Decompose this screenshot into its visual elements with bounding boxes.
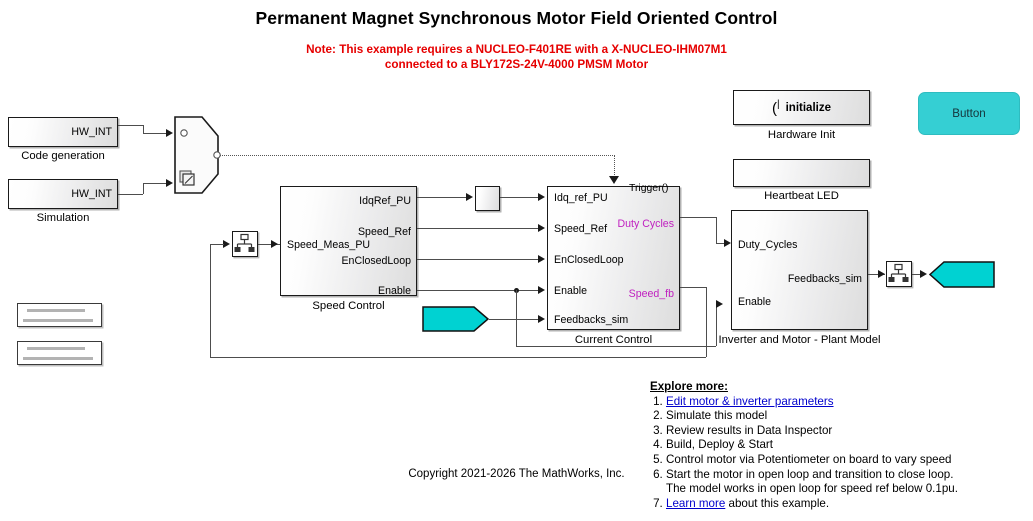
simulation-port-label: HW_INT bbox=[71, 188, 112, 200]
plant-in-dutycycles: Duty_Cycles bbox=[738, 239, 797, 251]
edit-motor-inverter-parameters-link[interactable]: Edit motor & inverter parameters bbox=[666, 395, 834, 408]
arrow-current-control-in-enable bbox=[538, 286, 545, 294]
explore-item-4: Build, Deploy & Start bbox=[666, 438, 1030, 453]
learn-more-link[interactable]: Learn more bbox=[666, 497, 725, 510]
trigger-dashed-v bbox=[614, 155, 615, 177]
plant-model-block[interactable]: Duty_Cycles Enable Feedbacks_sim bbox=[731, 210, 868, 330]
arrow-bus-creator-in bbox=[878, 270, 885, 278]
simulation-block[interactable]: HW_INT bbox=[8, 179, 118, 209]
arrow-goto-in bbox=[920, 270, 927, 278]
dashboard-button-label: Button bbox=[952, 107, 986, 120]
copyright-text: Copyright 2021-2026 The MathWorks, Inc. bbox=[0, 468, 1033, 480]
annotation-line-2 bbox=[23, 319, 93, 322]
initialize-function-icon: (| bbox=[772, 99, 780, 117]
wire-speedfb-v1 bbox=[706, 287, 707, 357]
arrow-variant-in-1 bbox=[166, 129, 173, 137]
annotation-line-1 bbox=[27, 309, 85, 312]
hardware-init-icon-label: initialize bbox=[786, 102, 831, 114]
simulink-model-canvas: Permanent Magnet Synchronous Motor Field… bbox=[0, 0, 1033, 521]
wire-idqref-2 bbox=[500, 197, 540, 198]
speed-control-out-idqref: IdqRef_PU bbox=[359, 195, 411, 207]
current-control-out-speedfb: Speed_fb bbox=[629, 288, 674, 300]
speed-control-out-speedref: Speed_Ref bbox=[358, 226, 411, 238]
bus-creator-output[interactable] bbox=[886, 261, 912, 287]
wire-sim-h1 bbox=[118, 194, 143, 195]
goto-block-feedbacks[interactable] bbox=[929, 261, 995, 288]
bus-selector-feedback[interactable] bbox=[232, 231, 258, 257]
wire-from-to-currentcontrol bbox=[489, 319, 540, 320]
hardware-init-icon-row: (| initialize bbox=[734, 91, 869, 124]
hardware-requirement-note: Note: This example requires a NUCLEO-F40… bbox=[0, 42, 1033, 72]
wire-codegen-h2 bbox=[143, 133, 166, 134]
arrow-current-control-in-enclosedloop bbox=[538, 255, 545, 263]
wire-speedfb-h1 bbox=[680, 287, 706, 288]
wire-codegen-h1 bbox=[118, 125, 143, 126]
arrow-rate-transition-in bbox=[466, 193, 473, 201]
explore-item-7-text: about this example. bbox=[725, 497, 829, 510]
current-control-in-idqref: Idq_ref_PU bbox=[554, 192, 608, 204]
wire-speedfb-v2 bbox=[210, 244, 211, 357]
current-control-trigger-label: Trigger() bbox=[629, 183, 668, 194]
arrow-variant-in-2 bbox=[166, 179, 173, 187]
wire-enable-branch-v2 bbox=[716, 304, 717, 346]
trigger-dashed-h bbox=[220, 155, 615, 156]
code-generation-caption: Code generation bbox=[8, 150, 118, 162]
explore-item-5: Control motor via Potentiometer on board… bbox=[666, 453, 1030, 468]
annotation-line-3 bbox=[27, 347, 85, 350]
annotation-block-2[interactable] bbox=[17, 341, 102, 365]
note-line-1: Note: This example requires a NUCLEO-F40… bbox=[0, 42, 1033, 57]
heartbeat-led-block[interactable] bbox=[733, 159, 870, 187]
explore-item-7: Learn more about this example. bbox=[666, 497, 1030, 512]
current-control-out-dutycycles: Duty Cycles bbox=[617, 218, 674, 230]
wire-enable-branch-h bbox=[516, 346, 716, 347]
arrow-current-control-in-speedref bbox=[538, 224, 545, 232]
arrow-plant-in-dutycycles bbox=[724, 239, 731, 247]
wire-dutycycles-v bbox=[716, 217, 717, 243]
explore-more-header: Explore more: bbox=[650, 380, 1030, 395]
wire-speedfb-h3 bbox=[210, 244, 224, 245]
page-title: Permanent Magnet Synchronous Motor Field… bbox=[0, 8, 1033, 29]
arrow-current-control-in-idqref bbox=[538, 193, 545, 201]
speed-control-block[interactable]: IdqRef_PU Speed_Ref Speed_Meas_PU EnClos… bbox=[280, 186, 417, 296]
speed-control-out-enable: Enable bbox=[378, 285, 411, 297]
arrow-bus-selector-in bbox=[223, 240, 230, 248]
plant-out-feedbacks: Feedbacks_sim bbox=[788, 273, 862, 285]
wire-enable-branch-v bbox=[516, 290, 517, 346]
wire-sim-v bbox=[143, 183, 144, 194]
annotation-line-4 bbox=[23, 357, 93, 360]
simulation-caption: Simulation bbox=[8, 212, 118, 224]
explore-more-list: Edit motor & inverter parameters Simulat… bbox=[650, 395, 1030, 512]
current-control-block[interactable]: Idq_ref_PU Speed_Ref EnClosedLoop Enable… bbox=[547, 186, 680, 330]
explore-item-6-subtext: The model works in open loop for speed r… bbox=[666, 482, 1030, 497]
explore-item-3: Review results in Data Inspector bbox=[666, 424, 1030, 439]
speed-control-out-enclosedloop: EnClosedLoop bbox=[341, 255, 411, 267]
rate-transition-block[interactable] bbox=[475, 186, 500, 211]
from-block-feedbacks[interactable] bbox=[422, 306, 490, 332]
wire-speedfb-h2 bbox=[210, 357, 706, 358]
arrow-current-control-in-feedbacks bbox=[538, 315, 545, 323]
speed-control-caption: Speed Control bbox=[280, 300, 417, 312]
explore-more-section: Explore more: Edit motor & inverter para… bbox=[650, 380, 1030, 511]
note-line-2: connected to a BLY172S-24V-4000 PMSM Mot… bbox=[0, 57, 1033, 72]
current-control-in-enable: Enable bbox=[554, 285, 587, 297]
arrow-current-control-trigger bbox=[609, 176, 619, 184]
hardware-init-caption: Hardware Init bbox=[733, 129, 870, 141]
code-generation-port-label: HW_INT bbox=[71, 126, 112, 138]
wire-codegen-v bbox=[143, 125, 144, 133]
wire-dutycycles-h1 bbox=[680, 217, 716, 218]
dashboard-button[interactable]: Button bbox=[918, 92, 1020, 135]
code-generation-block[interactable]: HW_INT bbox=[8, 117, 118, 147]
speed-control-in-speedmeas: Speed_Meas_PU bbox=[287, 239, 370, 251]
annotation-block-1[interactable] bbox=[17, 303, 102, 327]
current-control-caption: Current Control bbox=[547, 334, 680, 346]
plant-model-caption: Inverter and Motor - Plant Model bbox=[718, 334, 881, 346]
wire-speedref bbox=[417, 228, 540, 229]
current-control-in-speedref: Speed_Ref bbox=[554, 223, 607, 235]
current-control-in-enclosedloop: EnClosedLoop bbox=[554, 254, 624, 266]
variant-source-selector-block[interactable] bbox=[174, 116, 222, 194]
arrow-plant-in-enable bbox=[716, 300, 723, 308]
wire-enclosedloop bbox=[417, 259, 540, 260]
explore-item-2: Simulate this model bbox=[666, 409, 1030, 424]
explore-item-1: Edit motor & inverter parameters bbox=[666, 395, 1030, 410]
wire-enable-main bbox=[417, 290, 540, 291]
arrow-speed-control-in bbox=[271, 240, 278, 248]
hardware-init-block[interactable]: (| initialize bbox=[733, 90, 870, 125]
heartbeat-led-caption: Heartbeat LED bbox=[733, 190, 870, 202]
plant-in-enable: Enable bbox=[738, 296, 771, 308]
wire-sim-h2 bbox=[143, 183, 166, 184]
current-control-in-feedbacks: Feedbacks_sim bbox=[554, 314, 628, 326]
wire-idqref-1 bbox=[417, 197, 466, 198]
